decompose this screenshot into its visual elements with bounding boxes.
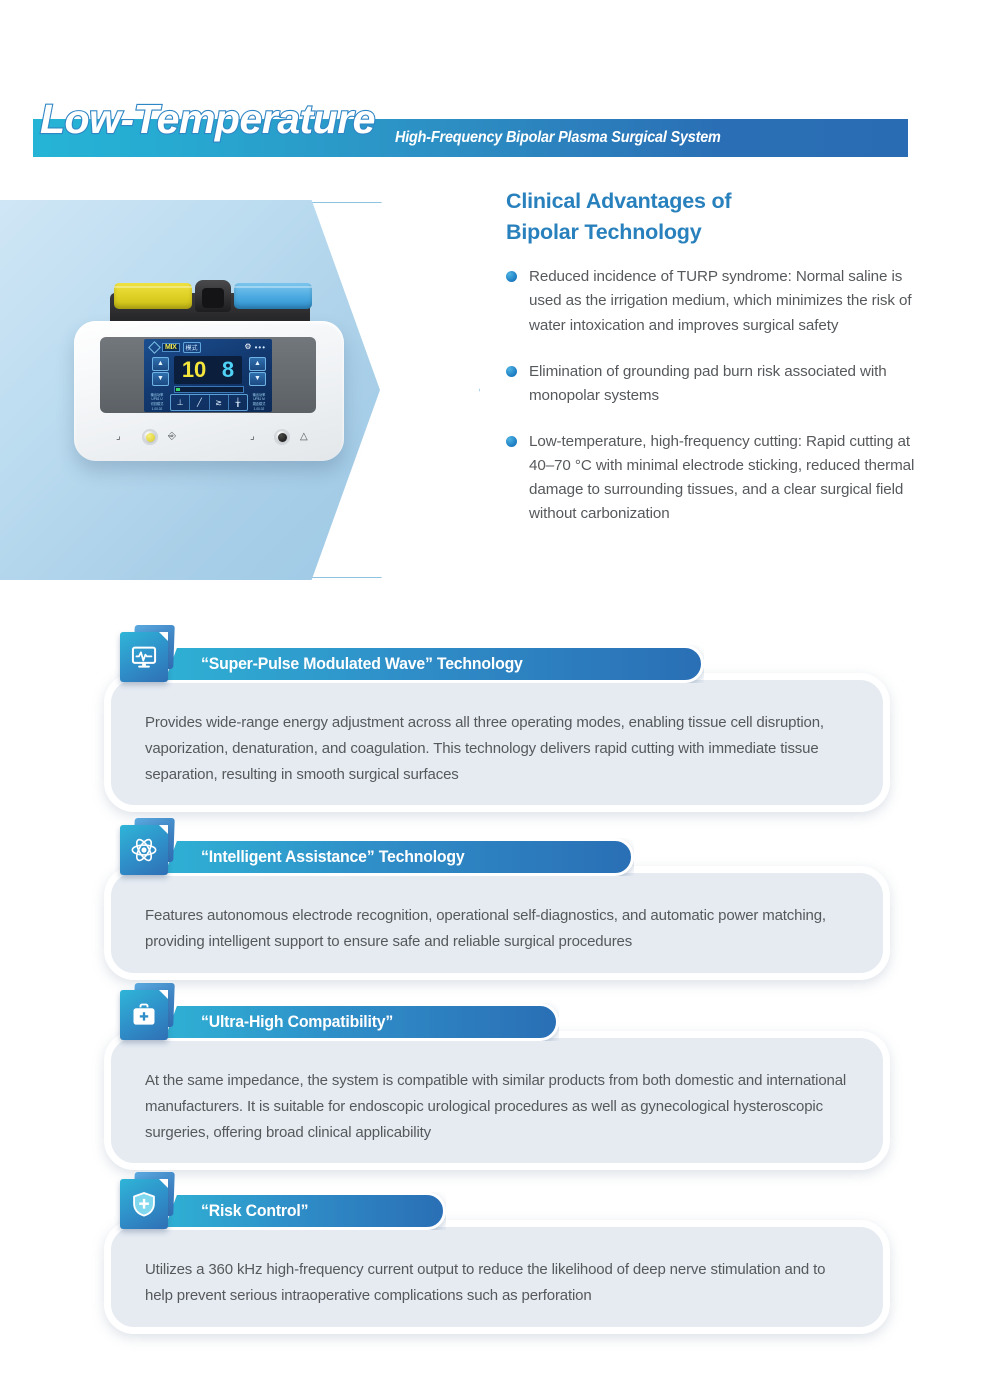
atom-icon [130,836,158,864]
badge-front-page [120,990,168,1040]
advantage-text: Low-temperature, high-frequency cutting:… [529,430,918,526]
advantage-text: Elimination of grounding pad burn risk a… [529,360,918,408]
feature-card: At the same impedance, the system is com… [104,1031,890,1170]
warning-icon: △ [300,431,308,442]
gear-icon[interactable]: ⚙ [244,343,251,351]
diamond-icon [148,341,161,354]
feature-title-label: “Risk Control” [201,1202,308,1221]
screen-tool-3[interactable]: ≳ [210,395,229,410]
feature-title-label: “Intelligent Assistance” Technology [201,848,464,867]
feature-title-label: “Ultra-High Compatibility” [201,1013,393,1032]
badge-front-page [120,1179,168,1229]
feature-card: Utilizes a 360 kHz high-frequency curren… [104,1220,890,1334]
patient-plate-icon: ⎆ [168,431,176,442]
advantage-text: Reduced incidence of TURP syndrome: Norm… [529,265,918,337]
feature-icon-badge [120,629,174,683]
hero-panel: MIX 模式 ⚙ ••• ▲ ▼ ▲ ▼ 10 8 ⊥ [0,200,500,580]
screen-mode-button[interactable]: 模式 [183,342,201,353]
feature-title-pill[interactable]: “Intelligent Assistance” Technology [164,838,634,876]
feature-body-text: Provides wide-range energy adjustment ac… [111,680,883,805]
feature-body-text: At the same impedance, the system is com… [111,1038,883,1163]
screen-right-info: 输出功率 UP81 M 凝血模式 1.00.02 [248,393,270,412]
clinical-advantages-section: Clinical Advantages of Bipolar Technolog… [506,186,918,548]
coag-pedal-icon: ⌟ [250,431,255,442]
screen-value-left: 10 [182,359,206,381]
screen-left-info: 输出功率 UP81 U 切割模式 1.00.02 [146,393,168,412]
device-handle [195,280,231,312]
shield-cross-icon [130,1190,158,1218]
screen-left-down-arrow[interactable]: ▼ [152,372,169,386]
feature-body-text: Utilizes a 360 kHz high-frequency curren… [111,1227,883,1327]
feature-title-pill[interactable]: “Super-Pulse Modulated Wave” Technology [164,645,704,683]
feature-title-label: “Super-Pulse Modulated Wave” Technology [201,655,523,674]
cut-pedal-icon: ⌟ [116,431,121,442]
black-socket-icon [274,429,290,445]
screen-left-up-arrow[interactable]: ▲ [152,357,169,371]
advantage-item: Reduced incidence of TURP syndrome: Norm… [506,265,918,337]
feature-icon-badge [120,822,174,876]
screen-value-right: 8 [222,359,234,381]
page-header: Low-Temperature High-Frequency Bipolar P… [0,0,1000,175]
screen-tool-row: ⊥ ╱ ≳ ╁ [170,394,248,411]
device-body: MIX 模式 ⚙ ••• ▲ ▼ ▲ ▼ 10 8 ⊥ [74,321,344,461]
feature-body-text: Features autonomous electrode recognitio… [111,873,883,973]
screen-right-down-arrow[interactable]: ▼ [249,372,266,386]
screen-tool-2[interactable]: ╱ [190,395,209,410]
screen-tool-4[interactable]: ╁ [229,395,247,410]
page-subtitle: High-Frequency Bipolar Plasma Surgical S… [395,129,721,147]
badge-front-page [120,632,168,682]
advantage-item: Low-temperature, high-frequency cutting:… [506,430,918,526]
advantages-heading-line2: Bipolar Technology [506,217,918,248]
device-connector-blue [234,283,312,309]
feature-card: Provides wide-range energy adjustment ac… [104,673,890,812]
device-control-panel: MIX 模式 ⚙ ••• ▲ ▼ ▲ ▼ 10 8 ⊥ [100,337,316,413]
monitor-waveform-icon [130,643,158,671]
feature-title-pill[interactable]: “Ultra-High Compatibility” [164,1003,559,1041]
bullet-dot-icon [506,366,517,377]
advantages-heading: Clinical Advantages of Bipolar Technolog… [506,186,918,247]
feature-icon-badge [120,1176,174,1230]
screen-value-display: 10 8 [174,356,242,384]
screen-right-up-arrow[interactable]: ▲ [249,357,266,371]
device-screen: MIX 模式 ⚙ ••• ▲ ▼ ▲ ▼ 10 8 ⊥ [144,339,272,412]
screen-logo: MIX [162,343,180,352]
bullet-dot-icon [506,436,517,447]
bullet-dot-icon [506,271,517,282]
feature-icon-badge [120,987,174,1041]
product-device-image: MIX 模式 ⚙ ••• ▲ ▼ ▲ ▼ 10 8 ⊥ [62,275,352,475]
advantage-item: Elimination of grounding pad burn risk a… [506,360,918,408]
screen-status-bar [174,386,244,393]
badge-front-page [120,825,168,875]
screen-topbar: MIX 模式 ⚙ ••• [150,342,266,353]
page-title: Low-Temperature [40,99,375,140]
screen-left-info-line4: 1.00.02 [146,407,168,412]
yellow-socket-icon [142,429,158,445]
feature-card: Features autonomous electrode recognitio… [104,866,890,980]
more-icon[interactable]: ••• [255,343,266,352]
device-front-panel: ⌟ ⎆ ⌟ △ [74,421,344,455]
advantages-heading-line1: Clinical Advantages of [506,186,918,217]
screen-right-info-line4: 1.00.02 [248,407,270,412]
screen-tool-1[interactable]: ⊥ [171,395,190,410]
medical-kit-icon [130,1001,158,1029]
device-connector-yellow [114,283,192,309]
feature-title-pill[interactable]: “Risk Control” [164,1192,446,1230]
